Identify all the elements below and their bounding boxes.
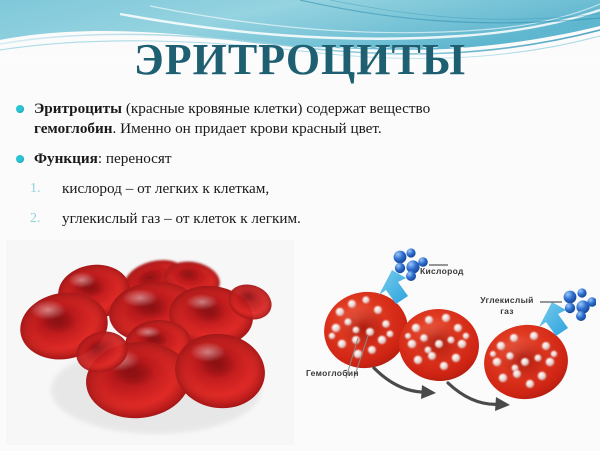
page-title: ЭРИТРОЦИТЫ <box>0 38 600 82</box>
bullet-text-function: : переносят <box>98 150 172 167</box>
bullet-item-function: Функция: переносят <box>14 149 586 169</box>
list-item-label: кислород – от легких к клеткам, <box>62 180 269 197</box>
bullet-dot-icon <box>16 105 24 113</box>
bullet-text-line2: . Именно он придает крови красный цвет. <box>113 120 382 137</box>
bullet-lead-erythrocytes: Эритроциты <box>34 100 122 117</box>
bullet-item-definition: Эритроциты (красные кровяные клетки) сод… <box>14 99 586 139</box>
red-blood-cells-photo <box>6 240 294 445</box>
bullet-text-line1: (красные кровяные клетки) содержат вещес… <box>122 100 430 117</box>
list-item: 1. кислород – от легких к клеткам, <box>14 179 586 199</box>
gas-exchange-diagram: Кислород Углекислый газ Гемоглобин <box>296 240 596 445</box>
slide: ЭРИТРОЦИТЫ Эритроциты (красные кровяные … <box>0 0 600 451</box>
label-oxygen: Кислород <box>420 266 464 277</box>
content-text-block: Эритроциты (красные кровяные клетки) сод… <box>14 99 586 229</box>
bullet-dot-icon <box>16 155 24 163</box>
list-item-number: 2. <box>30 209 50 229</box>
label-carbon-dioxide: Углекислый газ <box>474 295 540 317</box>
list-item-label: углекислый газ – от клеток к легким. <box>62 210 301 227</box>
bullet-lead-hemoglobin: гемоглобин <box>34 120 113 137</box>
label-hemoglobin: Гемоглобин <box>306 368 359 379</box>
list-item-number: 1. <box>30 179 50 199</box>
list-item: 2. углекислый газ – от клеток к легким. <box>14 209 586 229</box>
bullet-lead-function: Функция <box>34 150 98 167</box>
